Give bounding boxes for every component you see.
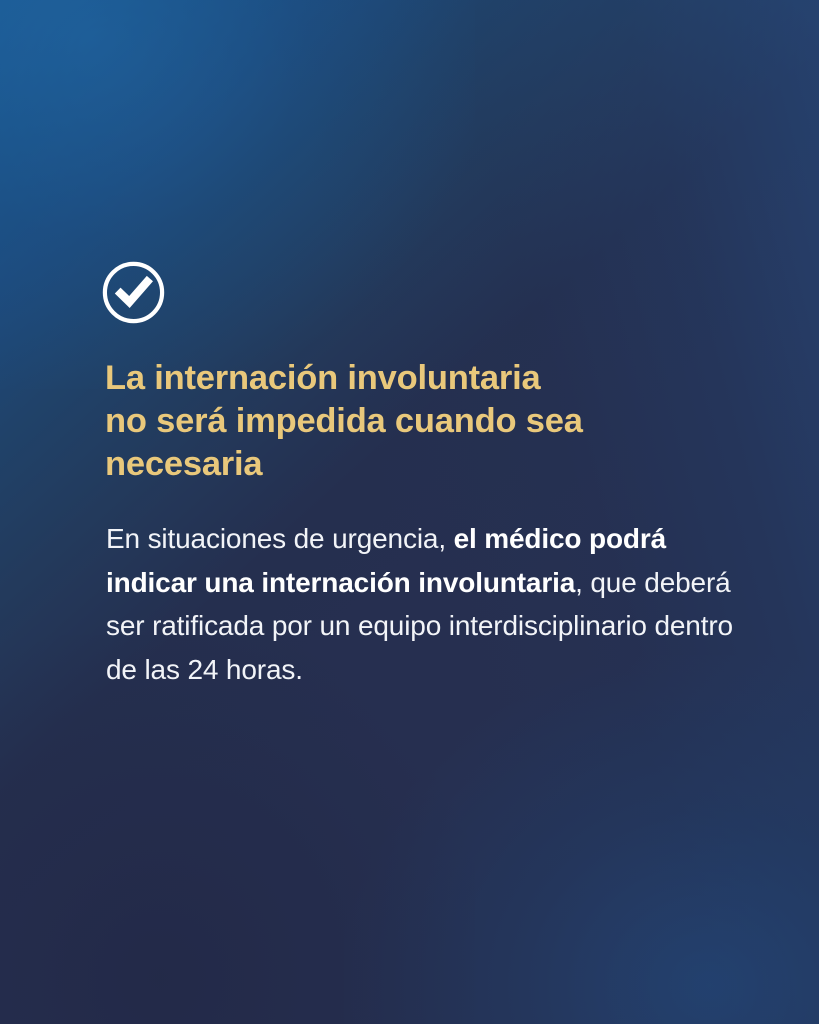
page-title: La internación involuntaria no será impe… [105, 357, 762, 486]
check-circle-icon [102, 261, 165, 324]
card-content: La internación involuntaria no será impe… [102, 261, 762, 691]
body-segment-lead: En situaciones de urgencia, [106, 523, 454, 554]
body-paragraph: En situaciones de urgencia, el médico po… [106, 517, 762, 691]
info-card: La internación involuntaria no será impe… [0, 0, 819, 1024]
card-background-bottom-left-shade [0, 635, 475, 1024]
